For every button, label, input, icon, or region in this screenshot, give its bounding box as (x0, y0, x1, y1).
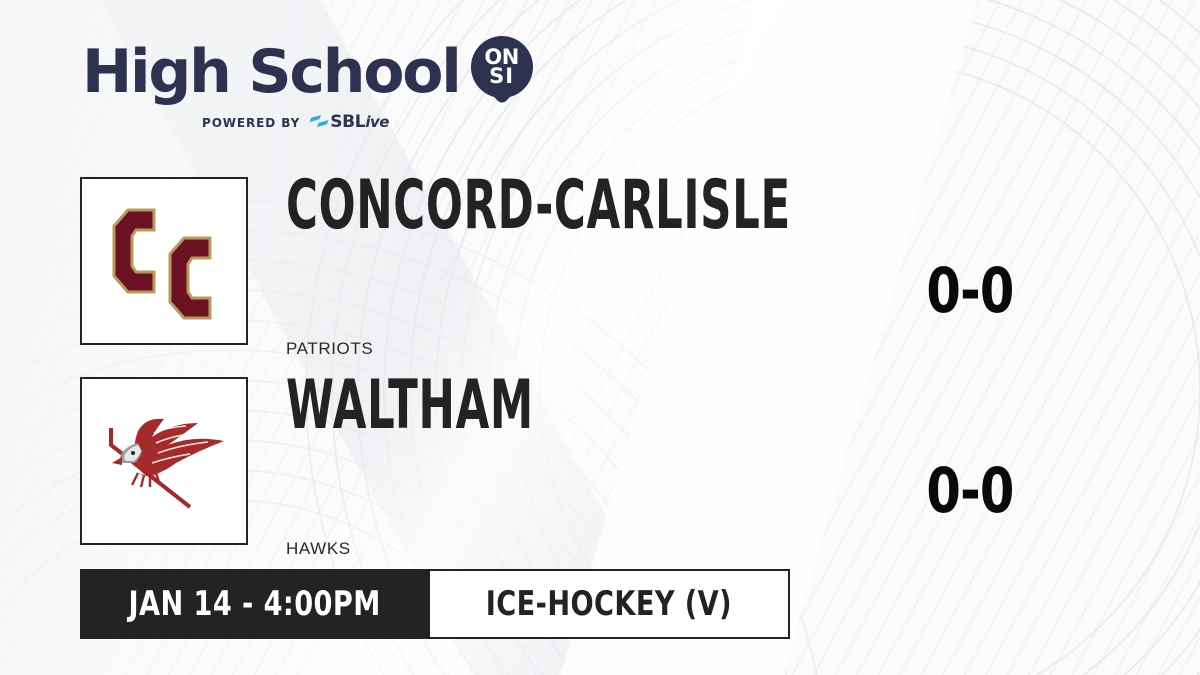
away-team-logo-box (80, 177, 248, 345)
home-team-name: WALTHAM (286, 372, 534, 440)
scoreboard-graphic: High School ON SI POWERED BY SBLive (0, 0, 1200, 675)
home-team-score: 0-0 (890, 460, 1050, 522)
sblive-s-icon (309, 114, 329, 131)
waltham-hawk-hockey-stick-icon (94, 401, 234, 521)
game-sport-cell: ICE-HOCKEY (V) (430, 569, 790, 639)
game-datetime-cell: JAN 14 - 4:00PM (80, 569, 430, 639)
game-sport-label: ICE-HOCKEY (V) (486, 587, 732, 621)
powered-by-row: POWERED BY SBLive (202, 114, 533, 131)
game-datetime-label: JAN 14 - 4:00PM (129, 587, 381, 621)
pin-label-si: SI (489, 67, 514, 86)
away-team-mascot: PATRIOTS (286, 339, 373, 359)
sblive-wordmark-main: SBL (330, 112, 365, 132)
sblive-wordmark: SBLive (330, 114, 389, 131)
powered-by-label: POWERED BY (202, 116, 300, 130)
home-team-logo-box (80, 377, 248, 545)
away-team-score: 0-0 (890, 260, 1050, 322)
home-team-mascot: HAWKS (286, 539, 351, 559)
concord-carlisle-cc-monogram-icon (110, 202, 218, 320)
brand-title: High School (82, 42, 460, 102)
sblive-logo: SBLive (309, 114, 389, 131)
brand-header: High School ON SI POWERED BY SBLive (82, 36, 533, 131)
away-team-name: CONCORD-CARLISLE (286, 172, 791, 240)
game-meta-bar: JAN 14 - 4:00PM ICE-HOCKEY (V) (80, 569, 790, 639)
sblive-wordmark-italic: ive (365, 113, 389, 131)
on-si-pin-icon: ON SI (471, 36, 533, 108)
